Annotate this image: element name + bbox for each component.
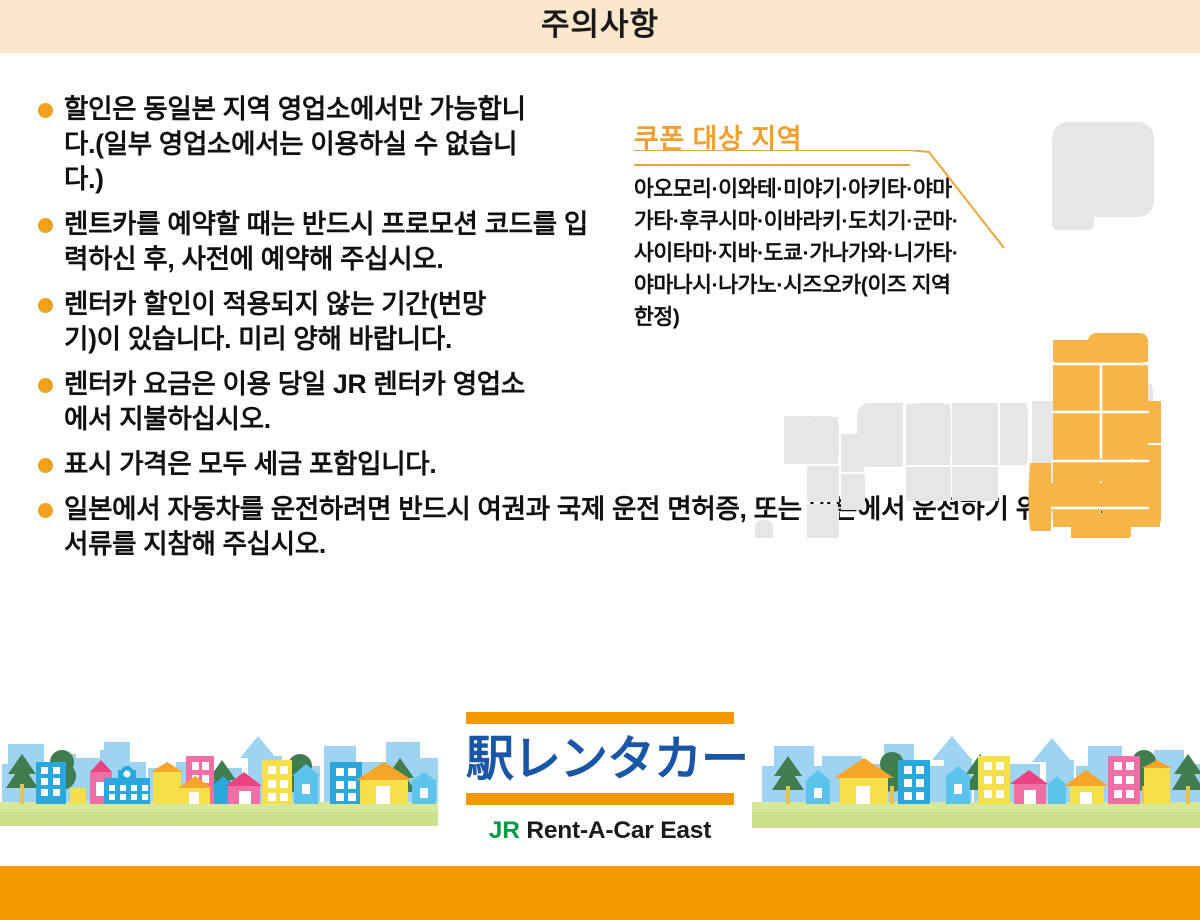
logo-english-text: Rent-A-Car East xyxy=(526,817,711,844)
notice-text: 할인은 동일본 지역 영업소에서만 가능합니다.(일부 영업소에서는 이용하실 … xyxy=(64,94,526,194)
cityscape-illustration-right xyxy=(752,706,1200,836)
notice-item: 렌트카를 예약할 때는 반드시 프로모션 코드를 입력하신 후, 사전에 예약해… xyxy=(34,207,594,277)
notice-text: 렌터카 할인이 적용되지 않는 기간(번망기)이 있습니다. 미리 양해 바랍니… xyxy=(64,289,486,354)
bullet-dot-icon xyxy=(38,103,53,118)
japan-region-map xyxy=(745,118,1195,538)
logo-subtitle: JR Rent-A-Car East xyxy=(466,817,734,845)
logo-japanese-text: 駅レンタカー xyxy=(466,731,734,787)
bullet-dot-icon xyxy=(38,503,53,518)
notice-text: 렌트카를 예약할 때는 반드시 프로모션 코드를 입력하신 후, 사전에 예약해… xyxy=(64,209,588,274)
bullet-dot-icon xyxy=(38,298,53,313)
footer-bar xyxy=(0,866,1200,920)
jr-rent-a-car-logo: 駅レンタカー JR Rent-A-Car East xyxy=(466,712,734,842)
notice-page: 주의사항 할인은 동일본 지역 영업소에서만 가능합니다.(일부 영업소에서는 … xyxy=(0,0,1200,920)
notice-item: 렌터카 요금은 이용 당일 JR 렌터카 영업소에서 지불하십시오. xyxy=(34,367,534,437)
cityscape-illustration-left xyxy=(0,706,438,836)
logo-jr-text: JR xyxy=(489,817,520,844)
logo-bar-bottom xyxy=(466,793,734,805)
notice-list: 할인은 동일본 지역 영업소에서만 가능합니다.(일부 영업소에서는 이용하실 … xyxy=(34,92,634,572)
notice-text: 표시 가격은 모두 세금 포함입니다. xyxy=(64,449,436,479)
grass xyxy=(0,802,438,826)
bullet-dot-icon xyxy=(38,218,53,233)
foreground-buildings xyxy=(804,756,1172,804)
notice-item: 표시 가격은 모두 세금 포함입니다. xyxy=(34,447,594,482)
notice-item: 렌터카 할인이 적용되지 않는 기간(번망기)이 있습니다. 미리 양해 바랍니… xyxy=(34,287,514,357)
logo-bar-top xyxy=(466,712,734,724)
bullet-dot-icon xyxy=(38,458,53,473)
grass xyxy=(752,802,1200,828)
notice-text: 렌터카 요금은 이용 당일 JR 렌터카 영업소에서 지불하십시오. xyxy=(64,369,525,434)
notice-item: 할인은 동일본 지역 영업소에서만 가능합니다.(일부 영업소에서는 이용하실 … xyxy=(34,92,534,197)
page-title: 주의사항 xyxy=(0,0,1200,53)
bullet-dot-icon xyxy=(38,378,53,393)
